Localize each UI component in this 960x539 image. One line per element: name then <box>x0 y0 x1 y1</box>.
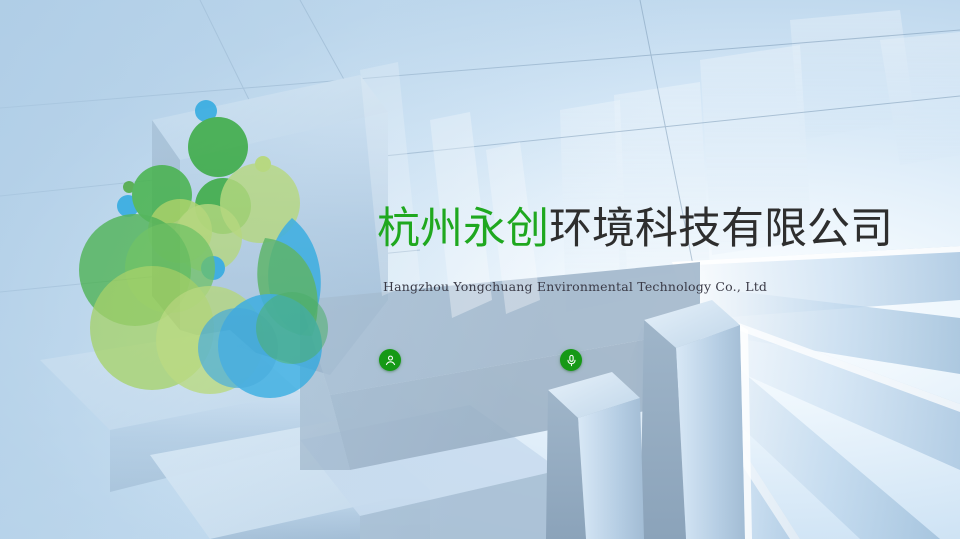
presentation-slide: 杭州永创环境科技有限公司 Hangzhou Yongchuang Environ… <box>0 0 960 539</box>
microphone-glyph <box>565 354 578 367</box>
user-glyph <box>384 354 397 367</box>
page-subtitle: Hangzhou Yongchuang Environmental Techno… <box>383 279 767 294</box>
title-highlight: 杭州永创 <box>377 205 549 253</box>
eco-bubbles-logo <box>60 78 360 418</box>
title-rest: 环境科技有限公司 <box>549 205 893 253</box>
user-icon[interactable] <box>379 349 401 371</box>
microphone-icon[interactable] <box>560 349 582 371</box>
page-title: 杭州永创环境科技有限公司 <box>377 203 893 255</box>
